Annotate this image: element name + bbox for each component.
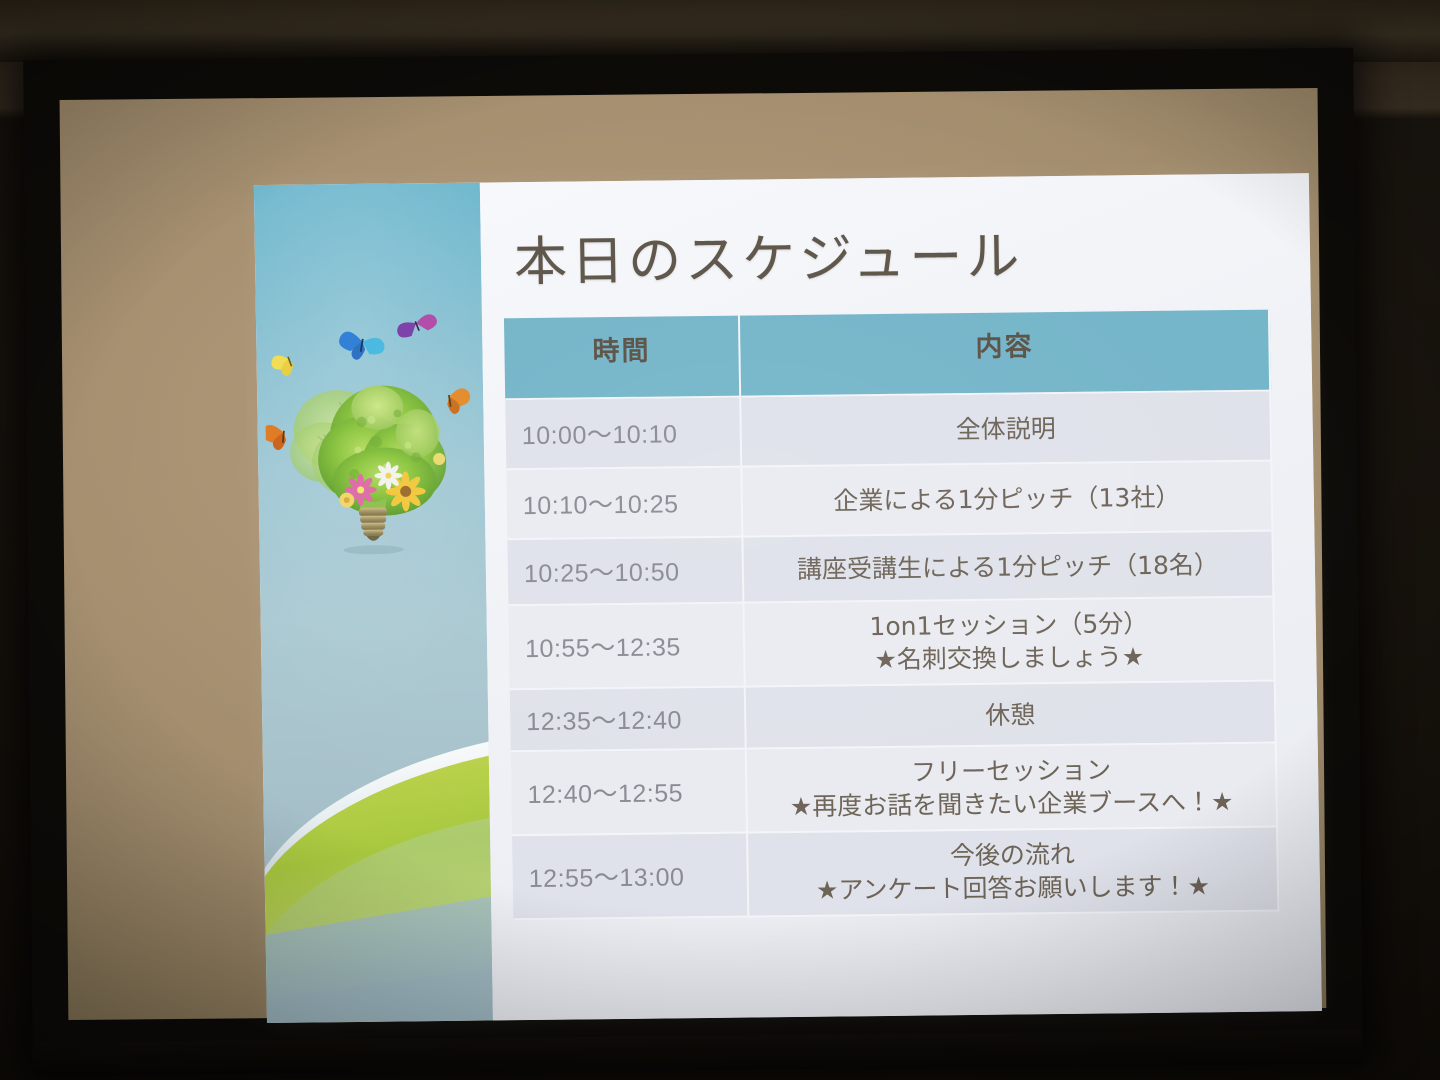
- row-time: 10:25〜10:50: [507, 538, 744, 607]
- table-row: 10:25〜10:50 講座受講生による1分ピッチ（18名）: [507, 532, 1274, 607]
- row-time: 12:55〜13:00: [512, 834, 749, 921]
- table-row: 10:00〜10:10 全体説明: [505, 392, 1272, 471]
- row-time: 12:35〜12:40: [510, 688, 747, 753]
- row-content: 全体説明: [741, 392, 1272, 468]
- screen-bottom-bar: [33, 1030, 1363, 1077]
- row-content: 休憩: [746, 682, 1277, 750]
- row-content-main: 講座受講生による1分ピッチ（18名）: [750, 547, 1266, 586]
- table-header-row: 時間 内容: [504, 310, 1271, 401]
- page-title: 本日のスケジュール: [513, 214, 1023, 296]
- column-header-time: 時間: [504, 316, 741, 401]
- butterfly-blue: [336, 330, 386, 365]
- butterfly-orange-right: [445, 387, 472, 415]
- row-content-note: ★アンケート回答お願いします！★: [755, 869, 1271, 908]
- table-row: 12:40〜12:55 フリーセッション ★再度お話を聞きたい企業ブースへ！★: [511, 744, 1278, 837]
- row-content-main: 全体説明: [747, 409, 1263, 448]
- schedule-table: 時間 内容 10:00〜10:10 全体説明: [504, 310, 1279, 921]
- slide-side-panel: [254, 183, 493, 1023]
- table-row: 12:55〜13:00 今後の流れ ★アンケート回答お願いします！★: [512, 828, 1279, 921]
- row-time: 12:40〜12:55: [511, 750, 748, 837]
- table-row: 10:55〜12:35 1on1セッション（5分） ★名刺交換しましょう★: [508, 598, 1275, 691]
- row-content-note: ★名刺交換しましょう★: [751, 639, 1267, 678]
- butterfly-yellow: [270, 352, 296, 379]
- row-content-main: 休憩: [752, 695, 1268, 734]
- butterfly-orange-left: [264, 424, 288, 451]
- projection-screen-surface: 本日のスケジュール 時間 内容: [60, 88, 1327, 1020]
- row-content: 1on1セッション（5分） ★名刺交換しましょう★: [744, 598, 1275, 688]
- room-background: 本日のスケジュール 時間 内容: [0, 0, 1440, 1080]
- lightbulb-tree-icon: [264, 301, 480, 573]
- row-content: 今後の流れ ★アンケート回答お願いします！★: [748, 828, 1279, 918]
- column-header-content: 内容: [740, 310, 1271, 398]
- table-row: 10:10〜10:25 企業による1分ピッチ（13社）: [506, 462, 1273, 541]
- slide-content-area: 本日のスケジュール 時間 内容: [480, 173, 1322, 1020]
- row-time: 10:00〜10:10: [505, 398, 742, 471]
- row-content-note: ★再度お話を聞きたい企業ブースへ！★: [753, 785, 1269, 824]
- row-time: 10:10〜10:25: [506, 468, 743, 541]
- row-content: 企業による1分ピッチ（13社）: [742, 462, 1273, 538]
- row-time: 10:55〜12:35: [508, 604, 745, 691]
- butterfly-purple: [395, 310, 440, 341]
- presentation-slide: 本日のスケジュール 時間 内容: [254, 173, 1322, 1023]
- table-row: 12:35〜12:40 休憩: [510, 682, 1277, 753]
- projection-screen-frame: 本日のスケジュール 時間 内容: [23, 48, 1363, 1071]
- row-content: 講座受講生による1分ピッチ（18名）: [743, 532, 1274, 604]
- row-content-main: 企業による1分ピッチ（13社）: [749, 479, 1265, 518]
- row-content: フリーセッション ★再度お話を聞きたい企業ブースへ！★: [747, 744, 1278, 834]
